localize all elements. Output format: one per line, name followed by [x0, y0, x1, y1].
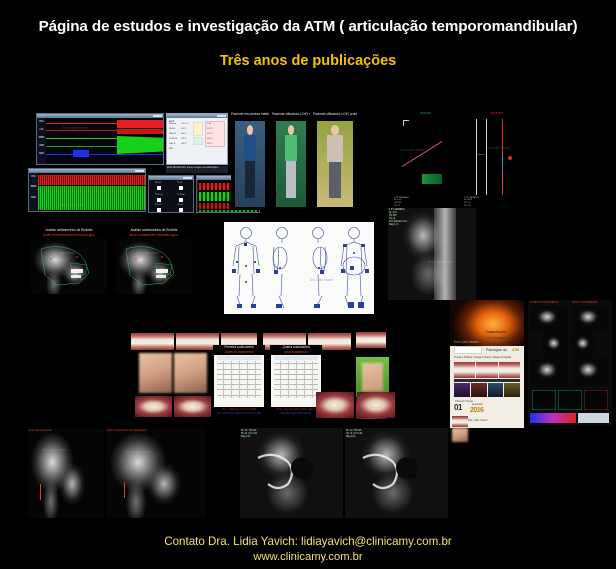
poster-photo-thumb — [454, 383, 470, 397]
cephalometric-before: Análise cefalométrica de Ricketts antes … — [28, 228, 110, 296]
poster-photo-thumb — [504, 383, 520, 397]
lateral-radiograph-before: antes do tratamento Dra Lidia Yavich — [28, 428, 104, 518]
poster-date-month: setembro — [472, 403, 483, 406]
watermark: Dra Lidia Yavich — [486, 146, 510, 150]
cephalometric-after-image: Dra Lidia Yavich — [116, 239, 192, 294]
posture-photo-1-caption: Paciente em postura habitual antes do tr… — [231, 112, 269, 116]
frontal-deviation-label: Desv. 1,4 — [478, 154, 487, 156]
posture-photo-3: Paciente utilizando o DIO pronta para ad… — [313, 112, 357, 210]
emg-electrode-setup-window: RT-uV LT-uV TOP-uV TOP-uV CV-uV CV-uV — [148, 175, 194, 213]
poster-caption-band — [454, 379, 520, 382]
electrode-marker[interactable] — [179, 208, 183, 212]
course-poster: Dra Lidia Yavich Capacitação em Diagnóst… — [450, 300, 524, 428]
emg-table-value: 002.0 — [181, 133, 186, 135]
emg-status-bar: EMG DIAGNOSIS: apos a terapia neurofisio… — [166, 166, 228, 173]
poster-photo-gallery — [454, 383, 520, 397]
electrode-label: CV-uV — [155, 204, 161, 206]
tmj-mri-after: SL 3.0 TR 620 TE 14 FoV 140 Mag 2.0x — [345, 428, 448, 518]
cephalometric-tracing-overlay — [116, 239, 192, 294]
face-shape — [362, 363, 383, 392]
posture-photo-2-caption: Paciente utilizando o DIO no inicio do t… — [272, 112, 310, 116]
emg-table-value: 000.7 — [207, 143, 212, 145]
torso-shape — [244, 135, 256, 161]
postural-chart-frontal: FRONTAL Desv. 1,4 Dra Lidia Yavich 1.5T … — [462, 110, 532, 210]
emg-channel-labels: RTA LTA RMM LMM RDA — [37, 118, 46, 164]
audiometry-after-sheet — [271, 355, 321, 407]
emg-table-row-label: Monitor — [169, 123, 176, 125]
emg-burst-red — [117, 129, 163, 134]
poster-teeth-thumb — [499, 362, 520, 378]
sagittal-deviation-bar — [422, 174, 442, 184]
emg-table-value: 001.3 — [181, 138, 186, 140]
poster-teeth-thumb — [476, 362, 497, 378]
posture-photo-2-image — [276, 121, 306, 207]
emg-channel-label: LMM — [38, 145, 46, 148]
head-shape — [331, 125, 338, 134]
posture-photo-3-image — [317, 121, 353, 207]
emg-channel-label: RDA — [30, 197, 38, 200]
emg-burst-green — [117, 136, 163, 154]
audiometry-after-legend-red: R E = Normal audiometric values — [270, 408, 322, 411]
emg-table-value: 001.9 — [207, 128, 212, 130]
emg-monitor-window: RTA LTA RMM LMM RDA Dra Lidia Yavich — [36, 113, 164, 165]
emg-table-row-label: TA LR — [169, 128, 175, 130]
poster-search-box[interactable] — [454, 346, 482, 354]
emg-table-value: 0.00 uV — [181, 123, 189, 125]
emg-table-row-label: MM LR — [169, 133, 176, 135]
mri-cervical-left: 1.5T SIEMENS SL 10.0 TR 550 TE 12 FoV 20… — [388, 208, 476, 300]
frontal-axis-line — [476, 119, 477, 195]
frontal-measure-line — [502, 119, 503, 195]
emg-table-value: 002.5 — [181, 128, 186, 130]
ct-slice — [571, 334, 597, 356]
emg-burst-blue — [73, 150, 89, 157]
poster-teeth-gallery — [454, 362, 520, 378]
frontal-chart-title: FRONTAL — [462, 111, 532, 115]
page-subtitle: Três anos de publicações — [0, 53, 616, 69]
cephalometric-after-title: Análise cefalométrica de Ricketts — [113, 228, 195, 232]
poster-tabs[interactable]: Teoria e Prática | Carga 2 Horas | Vagas… — [454, 356, 511, 359]
emg-channel-label: RMM — [38, 137, 46, 140]
torso-shape — [285, 135, 297, 161]
emg-channel-label: RTA — [38, 121, 46, 124]
emg-highlight-box-yellow — [193, 122, 203, 136]
legs-shape — [329, 162, 342, 198]
poster-line-2: em Diagnóstico e — [486, 336, 512, 340]
emg-signal-viewer-window: RTA RMM RDA Dra Lidia Yavich — [28, 168, 146, 212]
emg-table-value: 001.4 — [207, 133, 212, 135]
emg-highlight-box-green — [193, 137, 203, 145]
ct-contour-slice — [584, 390, 608, 410]
ct-toolbar-strip[interactable] — [530, 413, 576, 423]
electrode-label: CV-uV — [177, 204, 183, 206]
lateral-radiograph-after: após o tratamento neurofisiologico Dra L… — [106, 428, 206, 518]
head-shape — [247, 125, 253, 134]
website-line: www.clinicamy.com.br — [0, 551, 616, 563]
poster-date-year: 2016 — [470, 407, 484, 414]
cephalometric-after-subtitle: após o tratamento neurofisiologico — [113, 233, 195, 237]
legs-shape — [245, 161, 255, 199]
dental-arch-center-bottom-2 — [357, 392, 395, 418]
electrode-marker[interactable] — [157, 208, 161, 212]
head-shape — [288, 125, 294, 134]
emg-electrode-map: RT-uV LT-uV TOP-uV TOP-uV CV-uV CV-uV — [149, 180, 193, 212]
patient-thumb-small — [452, 428, 468, 442]
emg-summary-window: Data Monitor TA LR MM LR SCM LR DA LR IM… — [166, 113, 228, 165]
ct-after-label: APOS O TRATAMENTO — [572, 301, 598, 304]
audiometry-after-legend-blue: Normal audiometric values — [270, 412, 322, 415]
frontal-readout: 1.5T SIEMENS SL 4875 TR 3.0 TE 101 — [464, 197, 479, 208]
poster-photo-thumb — [488, 383, 504, 397]
emg-burst-red — [117, 120, 163, 128]
posture-photo-1: Paciente em postura habitual antes do tr… — [231, 112, 269, 210]
audiometry-before-subtitle: antes do tratamento — [213, 350, 265, 354]
electrode-label: LT-uV — [177, 182, 183, 184]
dental-strip-right-extra — [356, 332, 386, 348]
ct-slice — [542, 334, 568, 356]
emg-table-value: 000.9 — [181, 143, 186, 145]
body-figures — [224, 222, 374, 314]
lateral-radiograph-before-label: antes do tratamento — [29, 429, 52, 432]
measurement-marker — [40, 484, 41, 500]
cephalometric-before-subtitle: antes do tratamento neurofisiologico — [28, 233, 110, 237]
emg-table-value: 0.01 — [207, 123, 211, 125]
emg-burst-green — [38, 186, 145, 210]
sagittal-readout: 1.5T SIEMENS SL 10.0 TR 550 TE 12 — [394, 197, 409, 208]
ct-contour-slice — [558, 390, 582, 410]
spine-column — [434, 208, 456, 300]
ct-slice — [571, 358, 609, 386]
patient-photo-green-bg: Dra Lidia Yavich — [356, 357, 389, 397]
audiometry-after-title: Quarta audiometria — [270, 345, 322, 349]
poster-date-day: 01 — [454, 403, 462, 412]
body-trigger-point-chart: Dra Lidia Yavich — [224, 222, 374, 314]
cephalometric-before-title: Análise cefalométrica de Ricketts — [28, 228, 110, 232]
emg-trace-blue — [46, 154, 163, 155]
emg-burst-red — [38, 175, 145, 185]
tmj-mri-before: SL 3.0 TR 620 TE 14 FoV 140 Mag 2.0x — [240, 428, 343, 518]
poster-teeth-thumb — [454, 362, 475, 378]
emg-burst-green — [199, 210, 257, 213]
posture-photo-2: Paciente utilizando o DIO no inicio do t… — [272, 112, 310, 210]
poster-line-1: Capacitação — [486, 330, 506, 334]
frontal-axis-line — [486, 119, 487, 195]
ct-slice — [571, 306, 609, 332]
emg-table-row-label: IMP — [169, 148, 173, 150]
patient-face-frontal — [139, 353, 172, 393]
presentation-slide: Página de estudos e investigação da ATM … — [0, 0, 616, 569]
audiometry-before-sheet — [214, 355, 264, 407]
emg-summary-table: Data Monitor TA LR MM LR SCM LR DA LR IM… — [167, 118, 227, 164]
ct-slice-grid: ANTES DO TRATAMENTO APOS O TRATAMENTO — [528, 300, 612, 426]
dental-thumb-small — [452, 416, 468, 427]
emg-table-value: 001.0 — [207, 138, 212, 140]
emg-channel-label: RDA — [38, 153, 46, 156]
emg-table-row-label: DA LR — [169, 143, 175, 145]
lateral-radiograph-after-label: após o tratamento neurofisiologico — [107, 429, 147, 432]
cephalometric-after: Análise cefalométrica de Ricketts após o… — [113, 228, 195, 296]
electrode-marker[interactable] — [157, 186, 161, 190]
cephalometric-tracing-overlay — [31, 239, 107, 294]
dental-arch-center-bottom — [316, 392, 354, 418]
poster-line-4-accent: ATM — [512, 348, 519, 352]
poster-photo-thumb — [471, 383, 487, 397]
electrode-marker[interactable] — [179, 186, 183, 190]
posture-photo-1-image — [235, 121, 265, 207]
emg-status-text: EMG DIAGNOSIS: apos a terapia neurofisio… — [167, 167, 218, 169]
ct-before-label: ANTES DO TRATAMENTO — [530, 301, 559, 304]
electrode-marker[interactable] — [157, 198, 161, 202]
presenter-name: Dra. Lidia Yavich — [468, 419, 487, 422]
posture-photo-3-caption: Paciente utilizando o DIO pronta para ad… — [313, 112, 357, 116]
watermark: Dra Lidia Yavich — [454, 340, 478, 344]
dental-arch-upper — [135, 396, 172, 417]
emg-table-row-label: SCM LR — [169, 138, 177, 140]
dental-strip-occlusion-right — [131, 333, 174, 350]
page-title: Página de estudos e investigação da ATM … — [0, 18, 616, 35]
watermark: Dra Lidia Yavich — [310, 278, 333, 282]
tmj-anatomy-overlay — [240, 428, 343, 518]
emg-canvas: RTA LTA RMM LMM RDA Dra Lidia Yavich — [37, 118, 163, 164]
ct-contour-slice — [532, 390, 556, 410]
emg-channel-label: LTA — [38, 129, 46, 132]
audiometry-before-legend-red: R E = Mild hearing loss 0 dBs — [213, 408, 265, 411]
patient-face-profile — [174, 353, 207, 393]
tmj-anatomy-overlay — [345, 428, 448, 518]
electrode-marker[interactable] — [179, 198, 183, 202]
electrode-label: TOP-uV — [177, 194, 185, 196]
audiometry-after-subtitle: após tratamento — [270, 350, 322, 354]
frontal-point-marker — [508, 156, 512, 160]
electrode-label: TOP-uV — [155, 194, 163, 196]
dicom-overlay-text: 1.5T SIEMENS SL 10.0 TR 550 TE 12 FoV 20… — [389, 209, 407, 228]
legs-shape — [286, 161, 296, 199]
audiometry-header-band — [274, 356, 318, 360]
contact-line: Contato Dra. Lidia Yavich: lidiayavich@c… — [0, 535, 616, 548]
postural-chart-sagittal: SAGITAL Dra Lidia Yavich 1.5T SIEMENS SL… — [392, 110, 460, 210]
measurement-marker — [124, 482, 125, 498]
poster-line-4: Patologias da — [486, 348, 507, 352]
dental-arch-lower — [174, 396, 211, 417]
audiometry-before-title: Primeira audiometria — [213, 345, 265, 349]
emg-channel-labels: RTA RMM RDA — [29, 173, 38, 211]
torso-shape — [327, 135, 343, 163]
audiometry-header-band — [217, 356, 261, 360]
audiometry-after: Quarta audiometria após tratamento R E =… — [270, 345, 322, 417]
sagittal-chart-title: SAGITAL — [392, 111, 460, 115]
emg-channel-label: RMM — [30, 186, 38, 189]
watermark: Dra Lidia Yavich — [126, 450, 150, 454]
electrode-label: RT-uV — [155, 182, 161, 184]
ct-slice — [530, 306, 568, 332]
audiometry-before: Primeira audiometria antes do tratamento… — [213, 345, 265, 417]
emg-channel-label: RTA — [30, 176, 38, 179]
cephalometric-before-image: Dra Lidia Yavich — [31, 239, 107, 294]
watermark: Dra Lidia Yavich — [42, 448, 66, 452]
ct-slice — [530, 358, 568, 386]
emg-canvas: RTA RMM RDA Dra Lidia Yavich — [29, 173, 145, 211]
sagittal-angle-marker — [403, 120, 409, 126]
ct-panel-strip — [578, 413, 609, 423]
poster-line-3: Tratamento das — [486, 342, 510, 346]
audiometry-before-legend-blue: LE = Moderate hearing loss 4 = 6 dBs — [213, 412, 265, 415]
